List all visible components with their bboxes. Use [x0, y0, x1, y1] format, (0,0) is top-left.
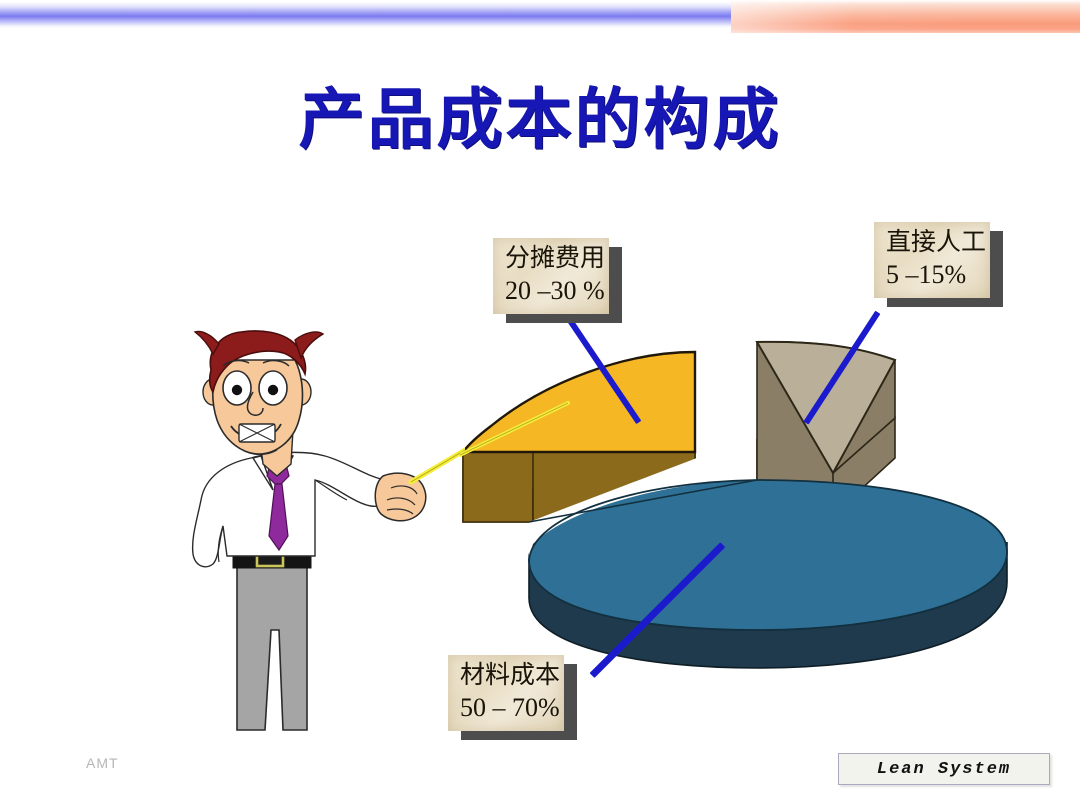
- amt-watermark: AMT: [86, 755, 119, 771]
- callout-material-title: 材料成本: [460, 661, 552, 692]
- callout-material-range: 50 – 70%: [460, 692, 552, 724]
- callout-overhead-range: 20 –30 %: [505, 275, 597, 307]
- page-title: 产品成本的构成: [0, 88, 1080, 154]
- presenter-svg: [175, 330, 465, 740]
- pie-chart-svg: [455, 330, 1020, 675]
- callout-material[interactable]: 材料成本 50 – 70%: [448, 655, 564, 731]
- callout-material-panel: 材料成本 50 – 70%: [448, 655, 564, 731]
- callout-direct-labor-range: 5 –15%: [886, 259, 978, 291]
- callout-direct-labor-title: 直接人工: [886, 228, 978, 259]
- presenter-illustration: [175, 330, 465, 745]
- lean-system-badge: Lean System: [838, 753, 1050, 785]
- head: [195, 331, 323, 455]
- trousers: [237, 566, 307, 730]
- pointer-stick: [411, 450, 465, 482]
- top-bar-orange-accent: [731, 0, 1080, 33]
- slide-canvas: 产品成本的构成: [0, 0, 1080, 809]
- lean-system-badge-label: Lean System: [877, 760, 1011, 779]
- pointer-stick-extension: [460, 395, 590, 475]
- callout-overhead-panel: 分摊费用 20 –30 %: [493, 238, 609, 314]
- callout-overhead[interactable]: 分摊费用 20 –30 %: [493, 238, 609, 314]
- top-bar-blue-accent: [0, 2, 733, 28]
- callout-overhead-title: 分摊费用: [505, 244, 597, 275]
- callout-direct-labor[interactable]: 直接人工 5 –15%: [874, 222, 990, 298]
- callout-direct-labor-panel: 直接人工 5 –15%: [874, 222, 990, 298]
- pie-chart: [455, 330, 1020, 680]
- shirt: [193, 452, 394, 566]
